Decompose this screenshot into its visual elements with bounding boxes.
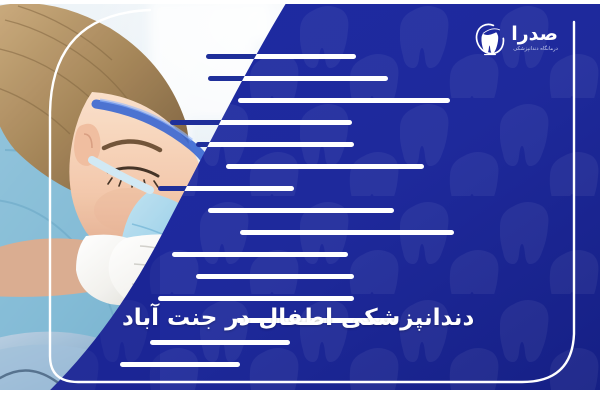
banner: صدرا درمانگاه دندانپزشکی دندانپزشکی اطفا… — [0, 0, 600, 400]
logo-text-block: صدرا درمانگاه دندانپزشکی — [511, 25, 558, 52]
brand-logo[interactable]: صدرا درمانگاه دندانپزشکی — [475, 22, 558, 56]
blue-panel — [0, 0, 600, 400]
banner-title: دندانپزشکی اطفال در جنت آباد — [122, 305, 562, 331]
logo-subtitle: درمانگاه دندانپزشکی — [513, 47, 558, 52]
logo-wordmark: صدرا — [511, 25, 558, 44]
tooth-in-circle-icon — [475, 22, 505, 56]
